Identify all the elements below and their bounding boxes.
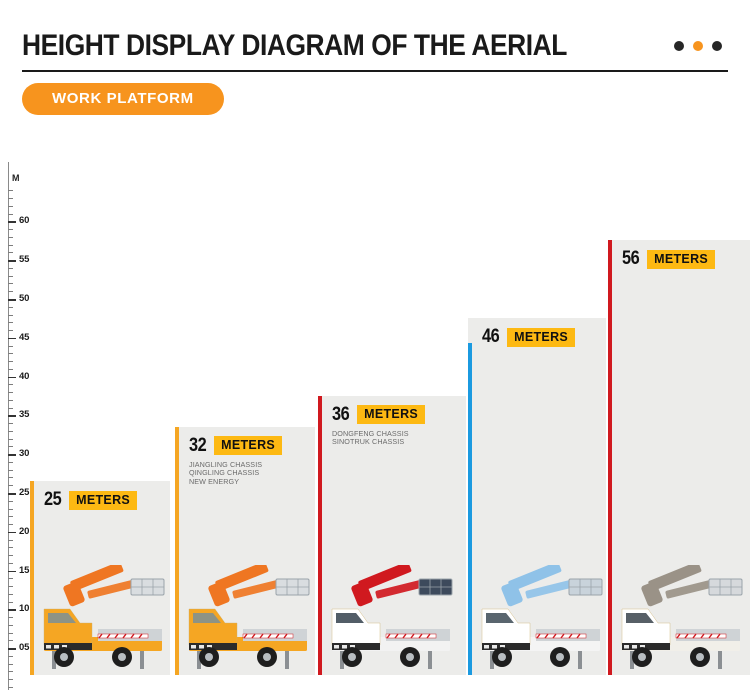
- dot-2-icon: [693, 41, 703, 51]
- truck-illustration: [474, 565, 608, 675]
- chart-baseline: [8, 675, 748, 676]
- bar-label: 25METERS: [44, 489, 137, 511]
- bar-value: 56: [622, 248, 639, 270]
- bar-label: 46METERS: [482, 326, 575, 348]
- bar-25m[interactable]: 25METERS: [30, 481, 170, 675]
- bar-accent-line: [318, 396, 322, 675]
- bar-accent-line: [175, 427, 179, 675]
- bar-subtitle: DONGFENG CHASSISSINOTRUK CHASSIS: [332, 430, 409, 447]
- bar-unit-badge: METERS: [214, 436, 282, 455]
- bar-unit-badge: METERS: [507, 328, 575, 347]
- bar-32m[interactable]: 32METERSJIANGLING CHASSISQINGLING CHASSI…: [175, 427, 315, 675]
- truck-illustration: [614, 565, 748, 675]
- bar-value: 32: [189, 435, 206, 457]
- dot-3-icon: [712, 41, 722, 51]
- bar-value: 25: [44, 489, 61, 511]
- bar-unit-badge: METERS: [357, 405, 425, 424]
- bar-group: 25METERS: [0, 150, 750, 690]
- page-title: HEIGHT DISPLAY DIAGRAM OF THE AERIAL: [22, 30, 567, 62]
- bar-unit-badge: METERS: [647, 250, 715, 269]
- bar-subtitle-line: NEW ENERGY: [189, 478, 262, 487]
- bar-36m[interactable]: 36METERSDONGFENG CHASSISSINOTRUK CHASSIS: [318, 396, 466, 675]
- bar-accent-line: [608, 240, 612, 675]
- header-row: HEIGHT DISPLAY DIAGRAM OF THE AERIAL: [22, 24, 728, 68]
- header-dots: [674, 41, 728, 51]
- bar-value: 46: [482, 326, 499, 348]
- bar-unit-badge: METERS: [69, 491, 137, 510]
- bar-label: 36METERS: [332, 404, 425, 426]
- bar-label: 56METERS: [622, 248, 715, 270]
- bar-accent-line: [30, 481, 34, 675]
- bar-56m[interactable]: 56METERS: [608, 240, 750, 675]
- dot-1-icon: [674, 41, 684, 51]
- bar-accent-line: [468, 343, 472, 675]
- bar-value: 36: [332, 404, 349, 426]
- height-diagram-page: HEIGHT DISPLAY DIAGRAM OF THE AERIAL WOR…: [0, 0, 750, 700]
- truck-illustration: [36, 565, 170, 675]
- truck-illustration: [181, 565, 315, 675]
- title-divider: [22, 70, 728, 72]
- chart-area: M 051015202530354045505560 25METERS: [0, 150, 750, 690]
- bar-46m[interactable]: 46METERS: [468, 318, 606, 675]
- header: HEIGHT DISPLAY DIAGRAM OF THE AERIAL WOR…: [22, 24, 728, 115]
- truck-illustration: [324, 565, 458, 675]
- bar-subtitle-line: SINOTRUK CHASSIS: [332, 438, 409, 447]
- work-platform-badge: WORK PLATFORM: [22, 83, 224, 115]
- bar-label: 32METERS: [189, 435, 282, 457]
- bar-subtitle: JIANGLING CHASSISQINGLING CHASSISNEW ENE…: [189, 461, 262, 487]
